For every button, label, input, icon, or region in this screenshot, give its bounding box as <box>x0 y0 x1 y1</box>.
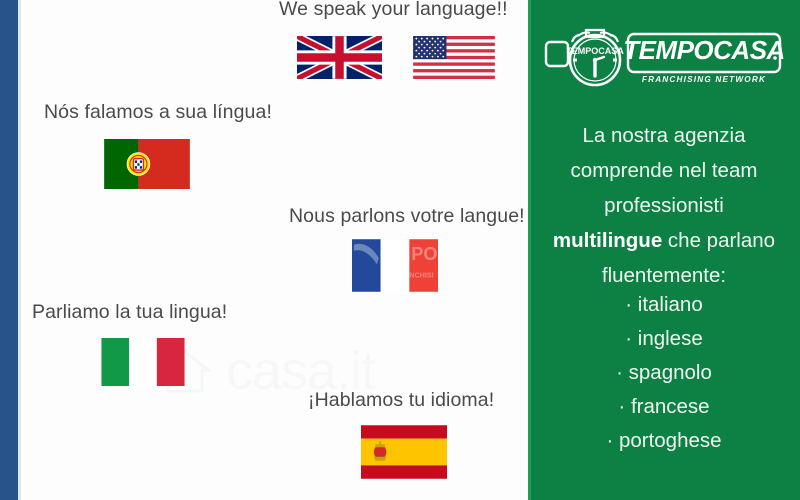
languages-panel: casa.it We speak your language!! <box>21 0 528 500</box>
language-item-portoghese: · portoghese <box>528 424 800 458</box>
language-item-spagnolo: · spagnolo <box>528 356 800 390</box>
uk-flag <box>297 36 382 79</box>
portugal-flag <box>104 139 190 189</box>
language-item-francese: · francese <box>528 390 800 424</box>
tempocasa-logo: TEMPOCASA TEMPOCASA FRANCHISING NETWORK <box>542 14 786 92</box>
info-line-3: professionisti <box>528 188 800 223</box>
phrase-french: Nous parlons votre langue! <box>289 205 525 228</box>
phrase-english: We speak your language!! <box>279 0 508 21</box>
italy-flag <box>101 338 185 386</box>
language-list: · italiano · inglese · spagnolo · france… <box>528 288 800 458</box>
info-line-4: multilingue che parlano <box>528 223 800 258</box>
slide-canvas: casa.it We speak your language!! <box>0 0 800 500</box>
info-line-4-rest: che parlano <box>662 229 775 252</box>
info-paragraph: La nostra agenzia comprende nel team pro… <box>528 118 800 293</box>
logo-badge-text: TEMPOCASA <box>566 46 624 56</box>
info-line-1: La nostra agenzia <box>528 118 800 153</box>
logo-wordmark: TEMPOCASA <box>623 35 785 65</box>
info-panel: TEMPOCASA TEMPOCASA FRANCHISING NETWORK … <box>528 0 800 500</box>
stopwatch-icon: TEMPOCASA TEMPOCASA FRANCHISING NETWORK <box>542 14 786 92</box>
svg-text:NCHISI: NCHISI <box>409 271 433 279</box>
phrase-italian: Parliamo la tua lingua! <box>32 301 227 324</box>
us-flag <box>412 36 496 79</box>
logo-tagline: FRANCHISING NETWORK <box>642 75 766 84</box>
language-item-italiano: · italiano <box>528 288 800 322</box>
left-accent-bar <box>0 0 18 500</box>
info-highlight: multilingue <box>553 229 662 252</box>
svg-text:PO: PO <box>411 244 437 264</box>
phrase-portuguese: Nós falamos a sua língua! <box>44 101 272 124</box>
spain-flag <box>361 425 447 479</box>
phrase-spanish: ¡Hablamos tu idioma! <box>308 389 494 412</box>
info-line-2: comprende nel team <box>528 153 800 188</box>
france-flag: PO NCHISI <box>352 239 438 292</box>
panel-divider <box>528 0 531 500</box>
language-item-inglese: · inglese <box>528 322 800 356</box>
